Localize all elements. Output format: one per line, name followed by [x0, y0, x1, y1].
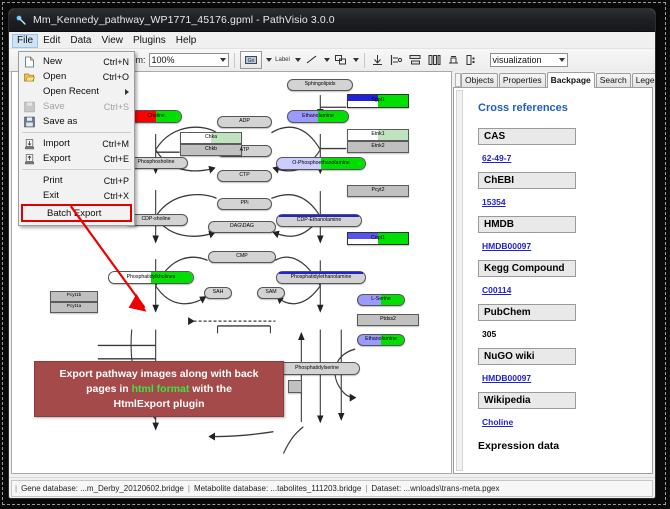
menu-item-accel: Ctrl+E [104, 154, 129, 164]
xref-value: 305 [482, 329, 496, 339]
xref-link[interactable]: HMDB00097 [482, 373, 531, 383]
xref-link[interactable]: 62-49-7 [482, 153, 511, 163]
toolbar-divider-2 [364, 53, 365, 68]
xref-database-name: HMDB [478, 216, 576, 233]
node-label: Choline [147, 114, 165, 119]
gene-node[interactable]: Etnk2 [347, 141, 409, 153]
metabolite-node[interactable]: Sphingolipids [287, 79, 353, 91]
folder-open-icon [24, 71, 35, 82]
expression-data-title: Expression data [478, 440, 652, 452]
menu-item-accel: Ctrl+N [103, 57, 129, 67]
menu-help[interactable]: Help [171, 34, 202, 48]
gene-node[interactable]: Ptdss2 [357, 314, 419, 326]
gene-tool-chevron-icon[interactable] [266, 58, 272, 62]
xref-group-hmdb: HMDB HMDB00097 [478, 216, 652, 260]
tab-objects[interactable]: Objects [461, 73, 498, 87]
xref-group-nugo: NuGO wiki HMDB00097 [478, 348, 652, 392]
metabolite-node[interactable]: DAG\DAG [208, 221, 276, 233]
xref-link[interactable]: C00114 [482, 285, 511, 295]
align-top-icon[interactable] [370, 52, 386, 68]
status-dataset: Dataset: ...wnloads\trans-meta.pgex [371, 484, 499, 493]
status-separator: | [15, 484, 17, 493]
save-icon [24, 101, 35, 112]
label-tool-chevron-icon[interactable] [295, 58, 301, 62]
menu-item-label: Print [43, 175, 63, 186]
node-label: Sgpl1 [371, 98, 384, 103]
xref-group-wikipedia: Wikipedia Choline [478, 392, 652, 436]
xref-group-cas: CAS 62-49-7 [478, 128, 652, 172]
xref-link[interactable]: HMDB00097 [482, 241, 531, 251]
metabolite-node[interactable]: SAH [204, 287, 232, 299]
z-order-icon[interactable] [465, 52, 481, 68]
chevron-down-icon [220, 58, 226, 62]
metabolite-node[interactable]: SAM [257, 287, 285, 299]
status-text-container: | Gene database: ...m_Derby_20120602.bri… [11, 480, 653, 497]
side-panel: Objects Properties Backpage Search Legen… [453, 71, 653, 474]
xref-database-name: ChEBI [478, 172, 576, 189]
metabolite-node[interactable]: ADP [217, 116, 272, 128]
menu-item-accel: Ctrl+S [104, 102, 129, 112]
menu-item-label: Open Recent [43, 86, 99, 97]
menu-item-accel: Ctrl+O [103, 72, 129, 82]
metabolite-node[interactable]: Phosphatidylethanolamine [276, 271, 366, 284]
gene-node[interactable]: Chkb [180, 144, 242, 156]
status-gene-database: Gene database: ...m_Derby_20120602.bridg… [21, 484, 184, 493]
node-label: Etnk1 [371, 132, 384, 137]
tab-search[interactable]: Search [596, 73, 631, 87]
xref-link[interactable]: Choline [482, 417, 513, 427]
annotation-line-3: HtmlExport plugin [114, 398, 205, 410]
node-label: CDP-Ethanolamine [297, 218, 341, 223]
metabolite-node[interactable]: Ethanolamine [357, 334, 405, 346]
menu-item-save-as[interactable]: Save as [19, 114, 134, 129]
node-label: Etnk2 [371, 144, 384, 149]
menu-item-label: Exit [43, 190, 59, 201]
metabolite-node[interactable]: CDP-Ethanolamine [276, 214, 362, 227]
menu-item-label: Batch Export [47, 208, 101, 219]
chevron-down-icon-2 [559, 58, 565, 62]
pathvisio-icon [15, 14, 27, 26]
metabolite-node[interactable]: Ethanolamine [287, 110, 349, 123]
menu-item-open[interactable]: Open Ctrl+O [19, 69, 134, 84]
menu-item-accel: Ctrl+M [102, 139, 129, 149]
menu-item-import[interactable]: Import Ctrl+M [19, 136, 134, 151]
status-bar: | Gene database: ...m_Derby_20120602.bri… [9, 477, 655, 498]
export-icon [24, 153, 35, 164]
new-file-icon [24, 56, 35, 67]
node-label: Chkb [205, 147, 217, 152]
node-label: CTP [239, 173, 249, 178]
pathway-anchor-box[interactable] [288, 380, 302, 393]
node-label: CDP-sholine [141, 217, 170, 222]
xref-group-pubchem: PubChem 305 [478, 304, 652, 348]
node-label: Phosphatidylethanolamine [291, 275, 352, 280]
status-separator-3: | [365, 484, 367, 493]
tab-legend[interactable]: Legend [632, 73, 656, 87]
menu-item-open-recent[interactable]: Open Recent [19, 84, 134, 99]
distribute-icon[interactable] [408, 52, 424, 68]
xref-database-name: Kegg Compound [478, 260, 576, 277]
node-label: L-Serine [371, 297, 391, 302]
line-tool-chevron-icon[interactable] [324, 58, 330, 62]
menu-item-label: Save as [43, 116, 77, 127]
node-label: O-Phosphoethanolamine [292, 161, 349, 166]
align-left-icon[interactable] [389, 52, 405, 68]
xref-group-kegg: Kegg Compound C00114 [478, 260, 652, 304]
xref-group-chebi: ChEBI 15354 [478, 172, 652, 216]
metabolite-node[interactable]: Phosphatidylserine [274, 362, 360, 375]
xref-database-name: PubChem [478, 304, 576, 321]
annotation-callout: Export pathway images along with back pa… [34, 361, 284, 417]
import-icon [24, 138, 35, 149]
menu-item-label: Import [43, 138, 70, 149]
menu-item-batch-export[interactable]: Batch Export [21, 204, 132, 222]
gene-node[interactable]: Pcyt1a [50, 302, 98, 313]
node-label: Ethanolamine [365, 337, 397, 342]
chevron-right-icon [125, 89, 129, 95]
annotation-highlight: html format [132, 383, 190, 395]
tab-properties[interactable]: Properties [499, 73, 546, 87]
metabolite-node[interactable]: Choline [130, 110, 182, 123]
xref-database-name: NuGO wiki [478, 348, 576, 365]
zoom-value: 100% [152, 55, 175, 65]
common-size-icon[interactable] [446, 52, 462, 68]
metabolite-node[interactable]: O-Phosphoethanolamine [276, 157, 366, 170]
node-label: Pcyt2 [372, 188, 385, 193]
node-label: DAG\DAG [230, 224, 254, 229]
annotation-line-2b: with the [189, 383, 232, 395]
node-label: Phosphatidylkholines [127, 275, 176, 280]
menu-separator-1 [22, 132, 131, 133]
status-metabolite-database: Metabolite database: ...tabolites_111203… [194, 484, 361, 493]
node-label: ADP [239, 119, 250, 124]
backpage-panel: Cross references CAS 62-49-7 ChEBI 15354… [453, 87, 653, 474]
gene-node[interactable]: Cept1 [347, 232, 409, 245]
menu-view[interactable]: View [96, 34, 128, 48]
annotation-line-1: Export pathway images along with back [60, 368, 259, 380]
menu-item-export[interactable]: Export Ctrl+E [19, 151, 134, 166]
menu-item-label: New [43, 56, 62, 67]
menu-item-label: Export [43, 153, 70, 164]
pathvisio-window: Mm_Kennedy_pathway_WP1771_45176.gpml - P… [8, 8, 656, 499]
gene-node[interactable]: Pcyt2 [347, 185, 409, 197]
xref-database-name: Wikipedia [478, 392, 576, 409]
gene-node[interactable]: Sgpl1 [347, 94, 409, 108]
side-panel-tabs: Objects Properties Backpage Search Legen… [453, 71, 653, 87]
gene-node[interactable]: Chka [180, 132, 242, 144]
node-label: SAH [213, 290, 224, 295]
xref-link[interactable]: 15354 [482, 197, 506, 207]
gene-product-tool-icon[interactable]: Gn [240, 51, 262, 69]
shape-tool-chevron-icon[interactable] [353, 58, 359, 62]
menu-file[interactable]: File [12, 34, 38, 48]
gene-node[interactable]: Etnk1 [347, 129, 409, 141]
node-label: SAM [265, 290, 276, 295]
node-label: Ptdss2 [380, 317, 396, 322]
menu-separator-2 [22, 169, 131, 170]
metabolite-node[interactable]: CTP [217, 170, 272, 182]
node-label: Sphingolipids [305, 82, 336, 87]
zoom-combo[interactable]: 100% [149, 53, 229, 67]
tab-backpage[interactable]: Backpage [547, 72, 595, 88]
menu-bar: File Edit Data View Plugins Help [9, 32, 655, 49]
menu-item-label: Save [43, 101, 65, 112]
visualization-value: visualization [493, 55, 542, 65]
menu-item-exit[interactable]: Exit Ctrl+X [19, 188, 134, 203]
node-label: ATP [240, 148, 250, 153]
toolbar-divider [234, 53, 235, 68]
svg-text:Gn: Gn [247, 58, 254, 64]
menu-item-new[interactable]: New Ctrl+N [19, 54, 134, 69]
stack-icon[interactable] [427, 52, 443, 68]
metabolite-node[interactable]: L-Serine [357, 294, 405, 306]
node-label: Phosphosholine [138, 160, 175, 165]
node-label: Cept1 [371, 236, 385, 241]
status-separator-2: | [188, 484, 190, 493]
desktop-background: Mm_Kennedy_pathway_WP1771_45176.gpml - P… [0, 0, 670, 509]
menu-data[interactable]: Data [65, 34, 96, 48]
node-label: Ethanolamine [302, 114, 334, 119]
menu-item-label: Open [43, 71, 66, 82]
cross-references-title: Cross references [478, 102, 652, 114]
menu-plugins[interactable]: Plugins [128, 34, 171, 48]
menu-item-accel: Ctrl+X [104, 191, 129, 201]
save-as-icon [24, 116, 35, 127]
node-label: Pcyt1a [67, 305, 82, 310]
file-menu-dropdown[interactable]: New Ctrl+N Open Ctrl+O Open Recent Save … [18, 51, 135, 226]
visualization-combo[interactable]: visualization [490, 53, 568, 67]
metabolite-node[interactable]: Phosphatidylkholines [108, 271, 194, 284]
menu-edit[interactable]: Edit [38, 34, 65, 48]
title-bar: Mm_Kennedy_pathway_WP1771_45176.gpml - P… [9, 9, 655, 32]
shape-tool-icon[interactable] [333, 52, 349, 68]
node-label: Chka [205, 135, 217, 140]
label-tool-icon[interactable]: Label [275, 52, 291, 68]
panel-scrollbar[interactable] [456, 90, 463, 471]
window-title: Mm_Kennedy_pathway_WP1771_45176.gpml - P… [33, 14, 335, 26]
metabolite-node[interactable]: PPi [217, 198, 272, 210]
node-label: Pcyt1b [67, 294, 82, 299]
node-label: PPi [240, 201, 248, 206]
xref-database-name: CAS [478, 128, 576, 145]
menu-item-accel: Ctrl+P [104, 176, 129, 186]
line-tool-icon[interactable] [304, 52, 320, 68]
node-label: CMP [236, 254, 248, 259]
gene-node[interactable]: Pcyt1b [50, 291, 98, 302]
metabolite-node[interactable]: CMP [208, 251, 276, 263]
annotation-line-2a: pages in [86, 383, 132, 395]
menu-item-save: Save Ctrl+S [19, 99, 134, 114]
node-label: Phosphatidylserine [295, 366, 339, 371]
menu-item-print[interactable]: Print Ctrl+P [19, 173, 134, 188]
